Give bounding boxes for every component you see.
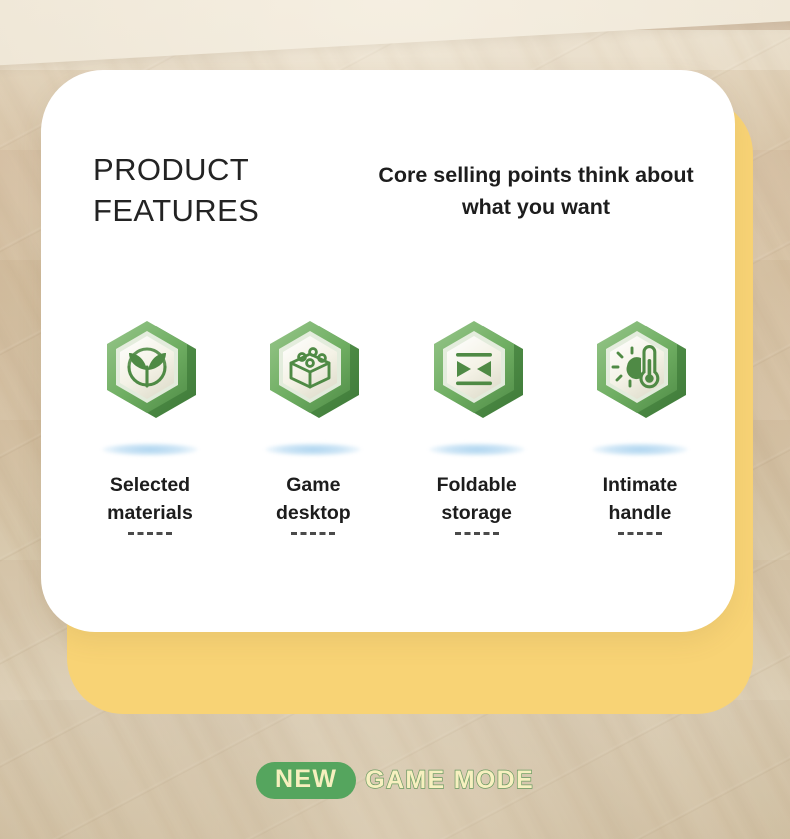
icon-shadow xyxy=(102,443,198,456)
game-mode-label: GAME MODE xyxy=(365,768,534,794)
header-subtitle: Core selling points think about what you… xyxy=(371,160,701,224)
card-surface: PRODUCT FEATURES Core selling points thi… xyxy=(41,70,735,632)
feature-item: Game desktop xyxy=(238,310,388,535)
feature-label: Game desktop xyxy=(276,472,351,527)
feature-item: Foldable storage xyxy=(402,310,552,535)
label-dash-underline xyxy=(291,532,335,535)
card-header: PRODUCT FEATURES Core selling points thi… xyxy=(41,158,735,248)
label-dash-underline xyxy=(455,532,499,535)
feature-item: Selected materials xyxy=(75,310,225,535)
feature-label: Selected materials xyxy=(107,472,193,527)
feature-item: Intimate handle xyxy=(565,310,715,535)
game-mode-badge: NEW GAME MODE xyxy=(0,762,790,799)
building-block-box-icon xyxy=(250,310,376,428)
feature-label: Intimate handle xyxy=(603,472,678,527)
icon-shadow xyxy=(592,443,688,456)
icon-shadow xyxy=(265,443,361,456)
label-dash-underline xyxy=(128,532,172,535)
new-badge-pill: NEW xyxy=(256,762,356,799)
label-dash-underline xyxy=(618,532,662,535)
icon-shadow xyxy=(429,443,525,456)
sprout-circle-icon xyxy=(87,310,213,428)
sun-thermometer-icon xyxy=(577,310,703,428)
feature-label: Foldable storage xyxy=(437,472,517,527)
feature-card: PRODUCT FEATURES Core selling points thi… xyxy=(41,70,753,642)
feature-list: Selected materials xyxy=(75,310,715,535)
page-title: PRODUCT FEATURES xyxy=(93,150,259,232)
fold-inward-arrows-icon xyxy=(414,310,540,428)
